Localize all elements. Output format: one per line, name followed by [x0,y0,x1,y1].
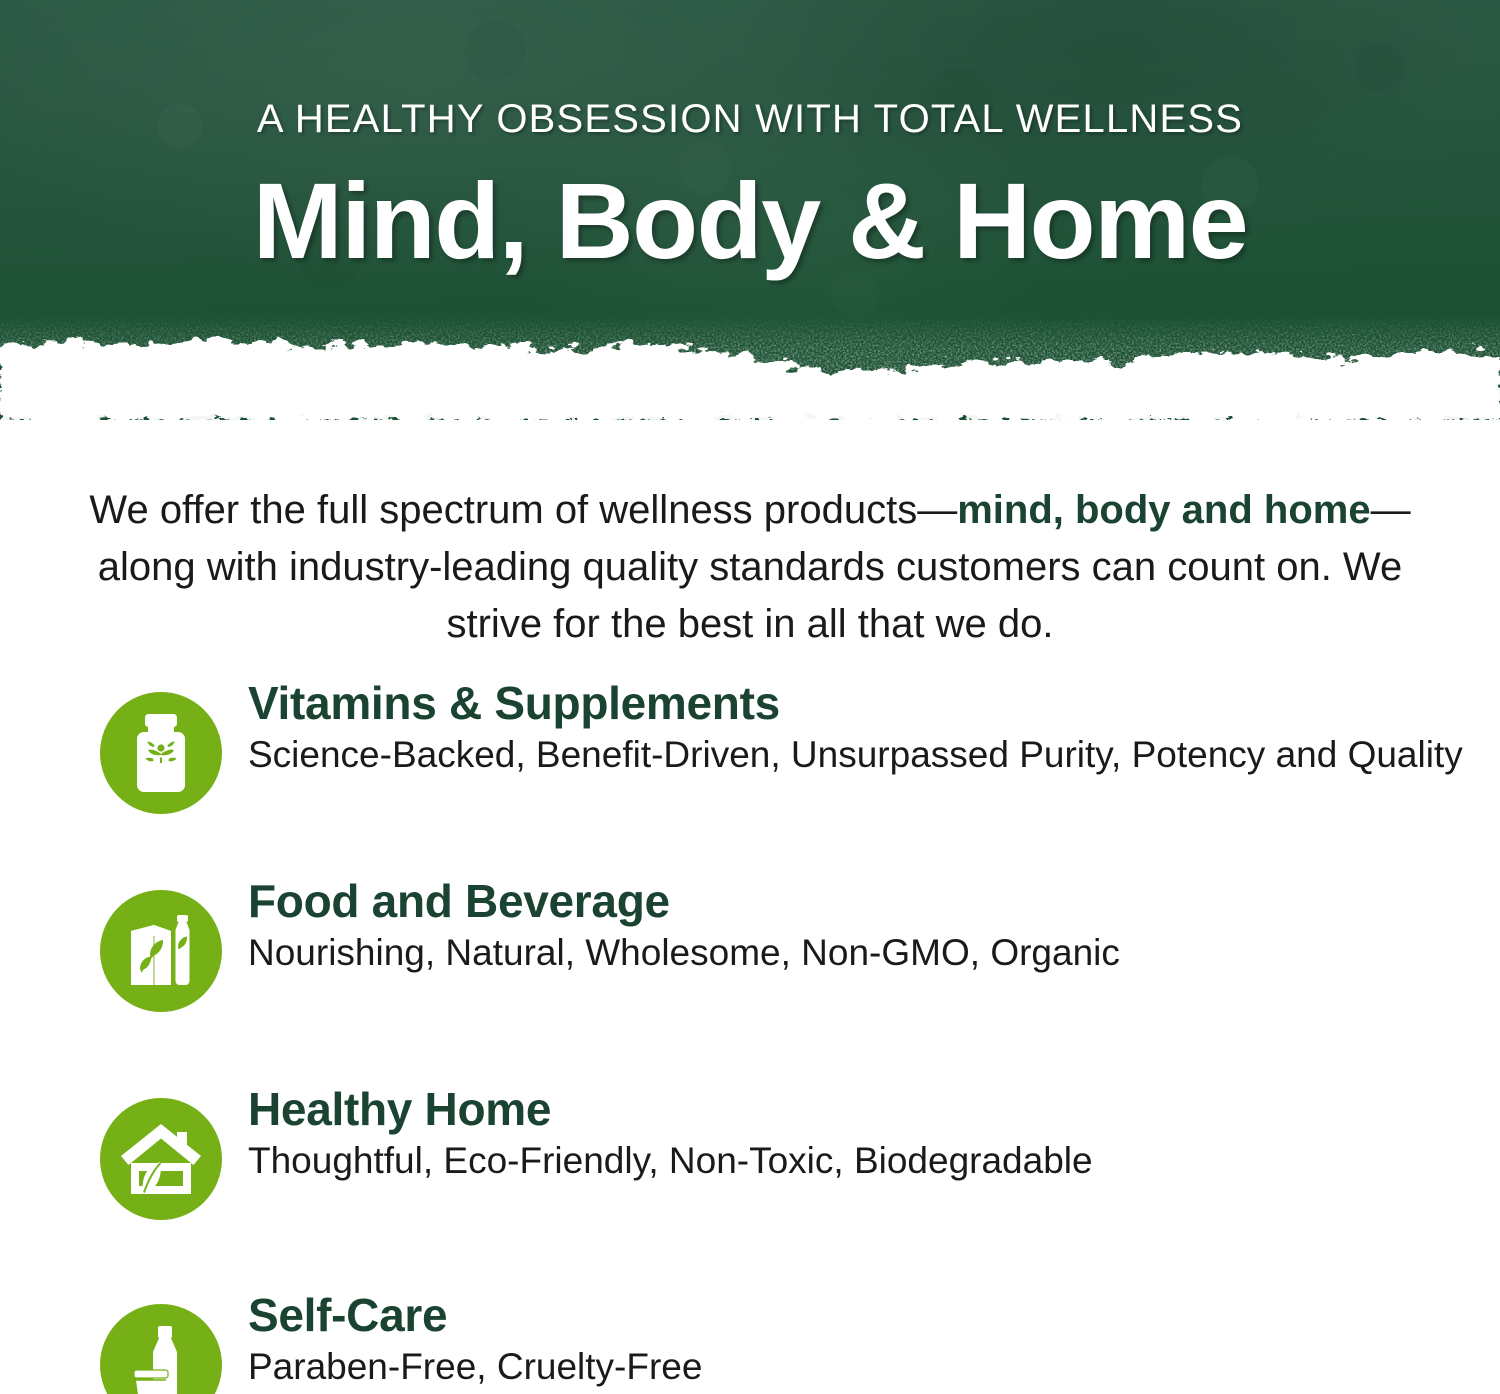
intro-highlight: mind, body and home [957,488,1370,532]
feature-text-block: Vitamins & Supplements Science-Backed, B… [222,678,1463,778]
food-bag-and-bottle-icon [100,890,222,1012]
supplement-bottle-icon [100,692,222,814]
intro-part-1: We offer the full spectrum of wellness p… [89,488,957,532]
hero-title: Mind, Body & Home [0,164,1500,278]
feature-row-healthy-home: Healthy Home Thoughtful, Eco-Friendly, N… [0,1084,1500,1220]
feature-row-self-care: Self-Care Paraben-Free, Cruelty-Free [0,1290,1500,1394]
feature-title: Healthy Home [248,1084,1093,1136]
hero-banner: A HEALTHY OBSESSION WITH TOTAL WELLNESS … [0,0,1500,420]
feature-title: Food and Beverage [248,876,1120,928]
feature-description: Thoughtful, Eco-Friendly, Non-Toxic, Bio… [248,1138,1093,1185]
feature-title: Vitamins & Supplements [248,678,1463,730]
intro-paragraph: We offer the full spectrum of wellness p… [70,482,1430,652]
feature-text-block: Healthy Home Thoughtful, Eco-Friendly, N… [222,1084,1093,1184]
feature-text-block: Food and Beverage Nourishing, Natural, W… [222,876,1120,976]
torn-paper-edge [0,270,1500,420]
feature-description: Nourishing, Natural, Wholesome, Non-GMO,… [248,930,1120,977]
hero-kicker-text: A HEALTHY OBSESSION WITH TOTAL WELLNESS [0,97,1500,142]
feature-title: Self-Care [248,1290,702,1342]
feature-list: Vitamins & Supplements Science-Backed, B… [0,678,1500,1394]
house-with-leaf-icon [100,1098,222,1220]
feature-description: Science-Backed, Benefit-Driven, Unsurpas… [248,732,1463,779]
wellness-infographic-page: A HEALTHY OBSESSION WITH TOTAL WELLNESS … [0,0,1500,1394]
feature-text-block: Self-Care Paraben-Free, Cruelty-Free [222,1290,702,1390]
feature-row-vitamins-supplements: Vitamins & Supplements Science-Backed, B… [0,678,1500,814]
feature-row-food-beverage: Food and Beverage Nourishing, Natural, W… [0,876,1500,1012]
lotion-bottle-and-jar-icon [100,1304,222,1394]
feature-description: Paraben-Free, Cruelty-Free [248,1344,702,1391]
